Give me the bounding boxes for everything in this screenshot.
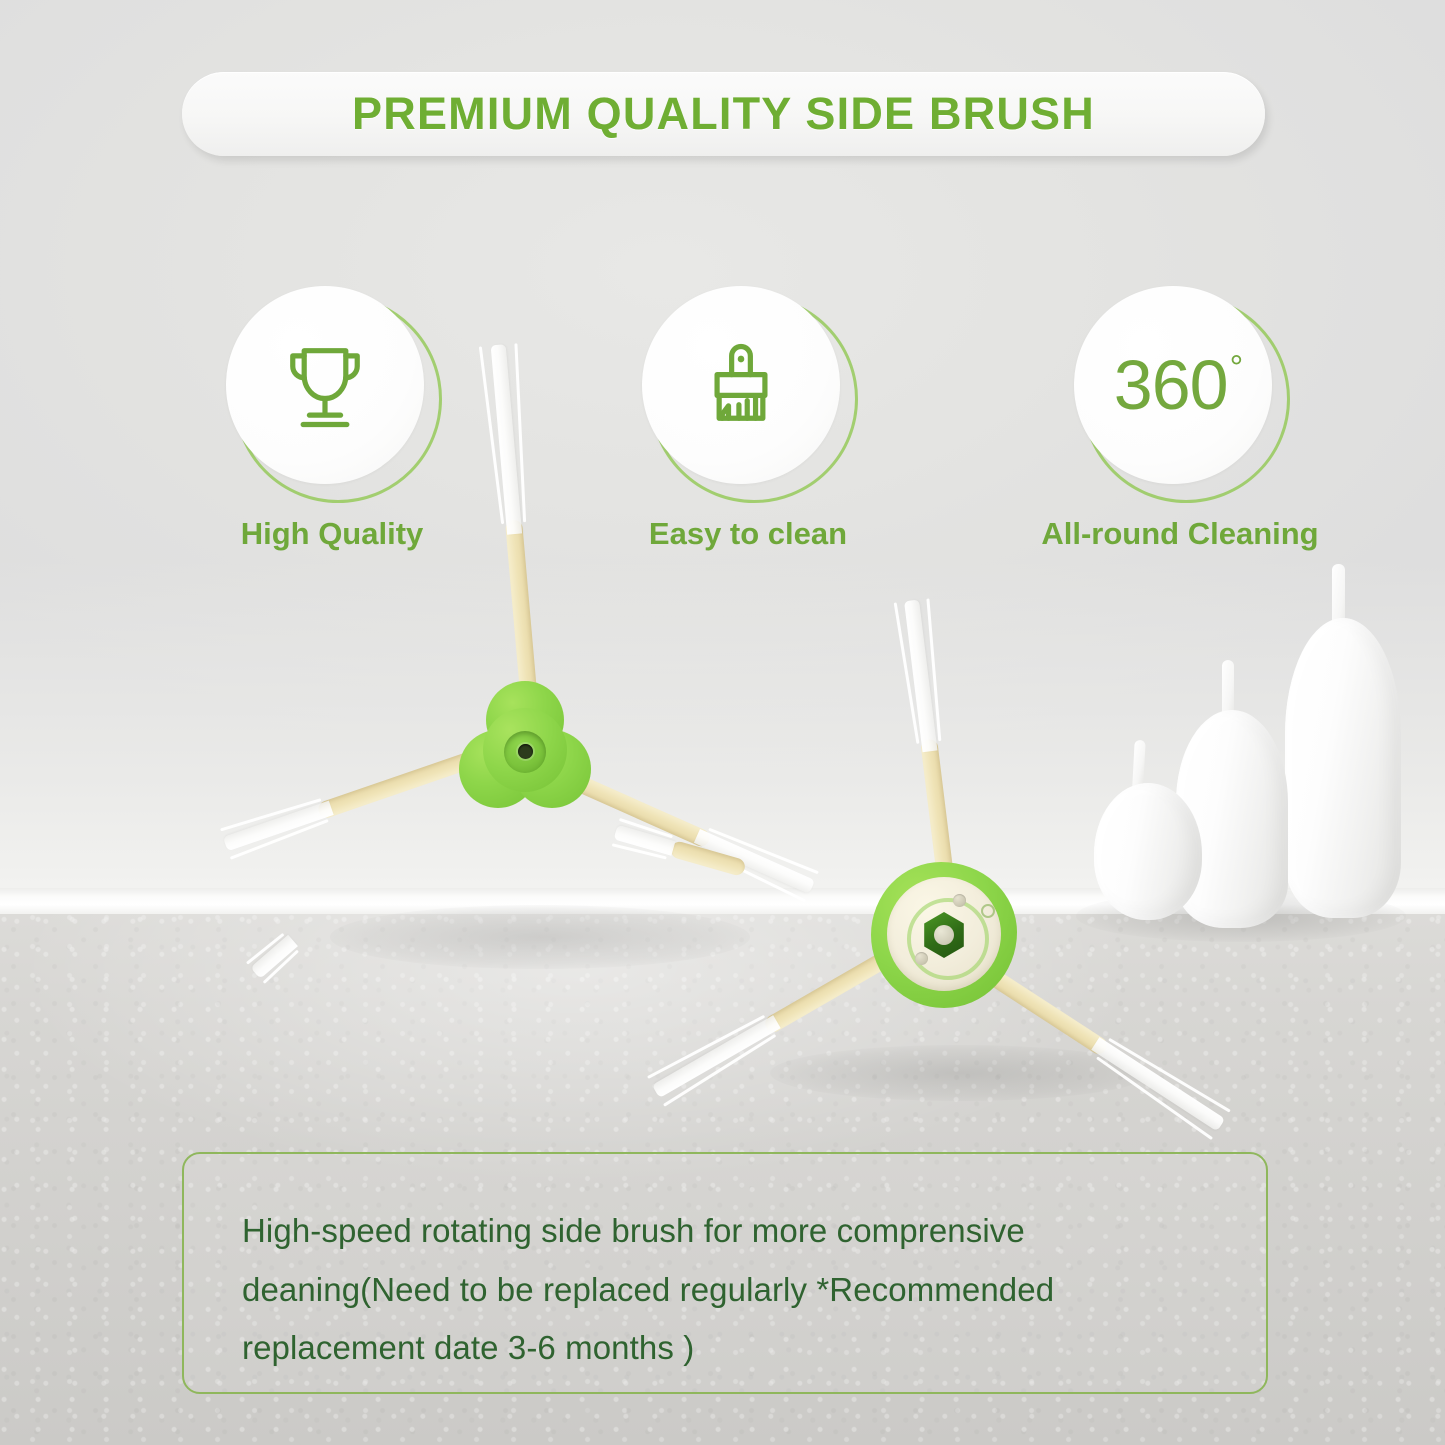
trophy-icon	[273, 333, 377, 437]
description-box: High-speed rotating side brush for more …	[182, 1152, 1268, 1394]
feature-label: High Quality	[182, 516, 482, 552]
brush-shadow-1	[330, 905, 750, 969]
brush-hub	[871, 862, 1017, 1008]
degree-360-icon: 360°	[1114, 345, 1240, 425]
badge-wrapper	[226, 286, 438, 498]
page-title: PREMIUM QUALITY SIDE BRUSH	[352, 88, 1095, 140]
badge-disc	[642, 286, 840, 484]
hub-hex-pin	[934, 925, 954, 945]
title-banner: PREMIUM QUALITY SIDE BRUSH	[182, 72, 1265, 156]
badge-disc	[226, 286, 424, 484]
brush-hub	[462, 687, 588, 813]
vase-body	[1285, 618, 1401, 918]
paint-brush-icon	[689, 333, 793, 437]
vase-body	[1094, 783, 1202, 920]
feature-list: High Quality	[160, 286, 1360, 576]
description-text: High-speed rotating side brush for more …	[242, 1202, 1210, 1378]
vase-small	[1094, 738, 1202, 920]
degree-symbol: °	[1230, 349, 1243, 387]
hub-center-hole	[518, 744, 533, 759]
brush-shadow-2	[770, 1045, 1150, 1101]
feature-label: Easy to clean	[598, 516, 898, 552]
product-marketing-image: PREMIUM QUALITY SIDE BRUSH	[0, 0, 1445, 1445]
vase-tall	[1285, 564, 1401, 918]
degree-360-value: 360	[1114, 346, 1228, 424]
feature-item-easy-to-clean: Easy to clean	[598, 286, 898, 552]
badge-wrapper: 360°	[1074, 286, 1286, 498]
hub-screw	[915, 952, 928, 965]
hub-screw	[953, 894, 966, 907]
feature-item-high-quality: High Quality	[182, 286, 482, 552]
feature-label: All-round Cleaning	[1030, 516, 1330, 552]
hub-marker-dot	[981, 904, 995, 918]
vase-group	[1080, 560, 1445, 960]
badge-disc: 360°	[1074, 286, 1272, 484]
feature-item-all-round-cleaning: 360° All-round Cleaning	[1030, 286, 1330, 552]
badge-wrapper	[642, 286, 854, 498]
